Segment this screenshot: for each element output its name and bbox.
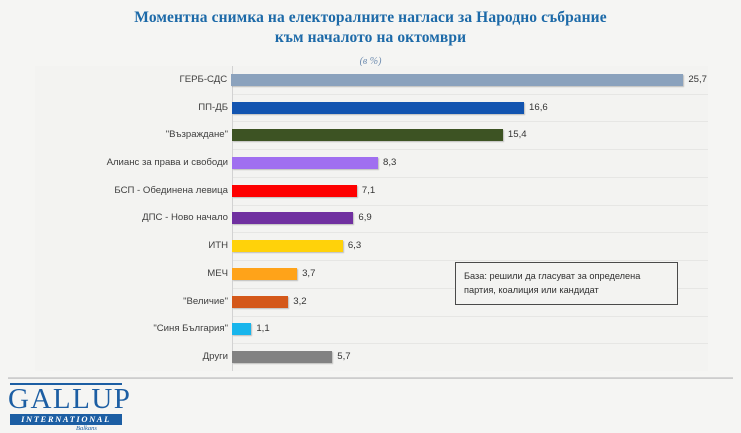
- bar-2: [232, 129, 503, 141]
- table-row: ГЕРБ-СДС25,7: [35, 66, 707, 94]
- bar-8: [232, 296, 288, 308]
- bar-value-label: 16,6: [529, 102, 548, 114]
- title-line-1: Моментна снимка на електоралните нагласи…: [0, 8, 741, 28]
- bar-cell: 6,9: [232, 205, 707, 233]
- chart-area: ГЕРБ-СДС25,7ПП-ДБ16,6"Възраждане"15,4Али…: [35, 66, 707, 371]
- category-label: БСП - Обединена левица: [35, 185, 232, 197]
- bar-cell: 8,3: [232, 149, 707, 177]
- footer-divider: [8, 377, 733, 379]
- category-label: ГЕРБ-СДС: [35, 74, 231, 86]
- table-row: Алианс за права и свободи8,3: [35, 149, 707, 177]
- base-note-line-2: партия, коалиция или кандидат: [464, 283, 669, 297]
- bar-value-label: 25,7: [688, 74, 707, 86]
- bar-7: [232, 268, 297, 280]
- bar-value-label: 3,7: [302, 268, 315, 280]
- category-label: ИТН: [35, 240, 232, 252]
- bar-3: [232, 157, 378, 169]
- bar-value-label: 15,4: [508, 129, 527, 141]
- bar-value-label: 8,3: [383, 157, 396, 169]
- category-label: Алианс за права и свободи: [35, 157, 232, 169]
- bar-value-label: 3,2: [293, 296, 306, 308]
- bar-cell: 1,1: [232, 316, 707, 344]
- logo-wordmark: GALLUP: [8, 384, 131, 414]
- category-label: ПП-ДБ: [35, 102, 232, 114]
- slide-root: Моментна снимка на електоралните нагласи…: [0, 0, 741, 427]
- bar-0: [231, 74, 683, 86]
- bar-1: [232, 102, 524, 114]
- bar-cell: 25,7: [231, 66, 707, 94]
- category-label: МЕЧ: [35, 268, 232, 280]
- table-row: "Синя България"1,1: [35, 316, 707, 344]
- bar-value-label: 5,7: [337, 351, 350, 363]
- table-row: ИТН6,3: [35, 232, 707, 260]
- bar-value-label: 1,1: [256, 323, 269, 335]
- table-row: ДПС - Ново начало6,9: [35, 205, 707, 233]
- category-label: "Синя България": [35, 323, 232, 335]
- bar-cell: 7,1: [232, 177, 707, 205]
- table-row: Други5,7: [35, 343, 707, 371]
- bar-5: [232, 212, 353, 224]
- gallup-logo: GALLUP INTERNATIONAL Balkans: [8, 381, 188, 425]
- table-row: ПП-ДБ16,6: [35, 94, 707, 122]
- bar-9: [232, 323, 251, 335]
- bar-cell: 15,4: [232, 121, 707, 149]
- bar-cell: 5,7: [232, 343, 707, 371]
- bar-cell: 16,6: [232, 94, 707, 122]
- category-label: ДПС - Ново начало: [35, 212, 232, 224]
- table-row: "Възраждане"15,4: [35, 121, 707, 149]
- title-line-2: към началото на октомври: [0, 28, 741, 48]
- bar-value-label: 6,3: [348, 240, 361, 252]
- base-note-line-1: База: решили да гласуват за определена: [464, 269, 669, 283]
- bar-value-label: 6,9: [358, 212, 371, 224]
- table-row: БСП - Обединена левица7,1: [35, 177, 707, 205]
- bar-cell: 6,3: [232, 232, 707, 260]
- logo-subtitle: INTERNATIONAL: [10, 414, 122, 425]
- base-note-box: База: решили да гласуват за определена п…: [455, 262, 678, 305]
- category-label: "Възраждане": [35, 129, 232, 141]
- logo-region-tag: Balkans: [76, 425, 97, 433]
- bar-10: [232, 351, 332, 363]
- page-title: Моментна снимка на електоралните нагласи…: [0, 8, 741, 48]
- category-label: "Величие": [35, 296, 232, 308]
- category-label: Други: [35, 351, 232, 363]
- bar-rows: ГЕРБ-СДС25,7ПП-ДБ16,6"Възраждане"15,4Али…: [35, 66, 707, 371]
- bar-value-label: 7,1: [362, 185, 375, 197]
- bar-6: [232, 240, 343, 252]
- bar-4: [232, 185, 357, 197]
